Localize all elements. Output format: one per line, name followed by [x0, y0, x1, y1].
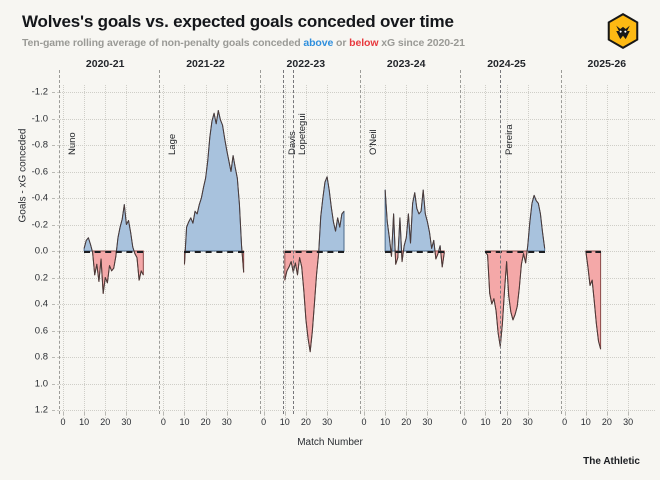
x-tick-label: 20: [301, 417, 311, 427]
x-tick-label: 30: [523, 417, 533, 427]
area-below-xg: [586, 251, 601, 349]
facet-separator: [561, 70, 562, 414]
season-label-2025-26: 2025-26: [559, 58, 655, 70]
x-tick-label: 10: [179, 417, 189, 427]
y-tick-label: 1.2: [0, 405, 48, 416]
grid-line-vertical: [628, 85, 629, 418]
y-tick-mark: [52, 251, 55, 252]
y-tick-mark: [52, 331, 55, 332]
page-title: Wolves's goals vs. expected goals conced…: [22, 12, 454, 32]
x-tick-label: 20: [201, 417, 211, 427]
grid-line-vertical: [464, 85, 465, 418]
subtitle-above-word: above: [303, 37, 333, 49]
facet-separator: [59, 70, 60, 414]
x-tick-mark: [206, 412, 207, 415]
x-tick-label: 10: [280, 417, 290, 427]
x-tick-mark: [528, 412, 529, 415]
area-above-xg: [398, 218, 401, 251]
y-tick-mark: [52, 119, 55, 120]
wolves-crest-icon: [606, 12, 640, 50]
zero-baseline: [385, 251, 444, 253]
x-tick-mark: [628, 412, 629, 415]
y-tick-mark: [52, 410, 55, 411]
y-tick-label: 1.0: [0, 378, 48, 389]
x-tick-label: 10: [79, 417, 89, 427]
x-tick-mark: [507, 412, 508, 415]
y-tick-mark: [52, 384, 55, 385]
x-tick-label: 0: [261, 417, 266, 427]
manager-change-line: [500, 70, 501, 414]
x-tick-mark: [227, 412, 228, 415]
facet-separator: [159, 70, 160, 414]
x-tick-mark: [586, 412, 587, 415]
area-above-xg: [392, 214, 395, 251]
x-tick-mark: [607, 412, 608, 415]
season-label-2021-22: 2021-22: [157, 58, 253, 70]
x-tick-label: 20: [401, 417, 411, 427]
manager-change-line: [293, 70, 294, 414]
manager-label-lage: Lage: [167, 134, 178, 155]
y-tick-mark: [52, 278, 55, 279]
grid-line-vertical: [163, 85, 164, 418]
area-below-xg: [134, 251, 143, 280]
season-label-2020-21: 2020-21: [57, 58, 153, 70]
y-tick-mark: [52, 357, 55, 358]
y-tick-mark: [52, 225, 55, 226]
area-below-xg: [441, 251, 445, 267]
x-tick-label: 20: [100, 417, 110, 427]
y-tick-label: -1.0: [0, 113, 48, 124]
area-above-xg: [319, 177, 344, 251]
facet-separator: [460, 70, 461, 414]
x-tick-mark: [464, 412, 465, 415]
x-tick-label: 30: [623, 417, 633, 427]
manager-label-lopetegui: Lopetegui: [297, 113, 308, 155]
x-tick-mark: [126, 412, 127, 415]
area-below-xg: [285, 251, 319, 352]
y-tick-label: -0.2: [0, 219, 48, 230]
series-outline: [84, 205, 143, 294]
x-tick-mark: [105, 412, 106, 415]
y-tick-mark: [52, 304, 55, 305]
x-tick-mark: [427, 412, 428, 415]
x-tick-label: 0: [361, 417, 366, 427]
area-above-xg: [185, 111, 242, 251]
y-tick-mark: [52, 172, 55, 173]
grid-line-vertical: [364, 85, 365, 418]
x-tick-label: 0: [60, 417, 65, 427]
x-tick-label: 0: [161, 417, 166, 427]
x-tick-mark: [565, 412, 566, 415]
subtitle-part-1: Ten-game rolling average of non-penalty …: [22, 37, 303, 49]
subtitle-part-3: xG since 2020-21: [378, 37, 464, 49]
manager-label-pereira: Pereira: [504, 124, 515, 155]
x-tick-label: 0: [562, 417, 567, 427]
x-tick-mark: [285, 412, 286, 415]
y-tick-mark: [52, 92, 55, 93]
subtitle-below-word: below: [349, 37, 378, 49]
x-tick-label: 30: [422, 417, 432, 427]
grid-line-vertical: [63, 85, 64, 418]
y-tick-label: -0.4: [0, 193, 48, 204]
x-tick-mark: [327, 412, 328, 415]
x-tick-label: 10: [480, 417, 490, 427]
series-outline: [586, 251, 601, 349]
x-tick-label: 20: [502, 417, 512, 427]
y-tick-label: -1.2: [0, 87, 48, 98]
area-above-xg: [116, 205, 134, 251]
area-above-xg: [403, 190, 435, 251]
x-tick-mark: [406, 412, 407, 415]
y-tick-label: 0.4: [0, 299, 48, 310]
x-tick-mark: [84, 412, 85, 415]
area-below-xg: [242, 251, 244, 272]
x-tick-mark: [485, 412, 486, 415]
zero-baseline: [485, 251, 544, 253]
x-axis-title: Match Number: [0, 437, 660, 448]
x-tick-mark: [306, 412, 307, 415]
y-tick-label: 0.2: [0, 272, 48, 283]
x-tick-label: 10: [581, 417, 591, 427]
grid-line-vertical: [565, 85, 566, 418]
manager-change-line: [283, 70, 284, 414]
x-tick-label: 30: [222, 417, 232, 427]
x-tick-mark: [184, 412, 185, 415]
x-tick-label: 10: [380, 417, 390, 427]
manager-label-oneil: O'Neil: [368, 129, 379, 155]
x-tick-label: 20: [602, 417, 612, 427]
series-outline: [184, 111, 243, 273]
season-label-2024-25: 2024-25: [458, 58, 554, 70]
season-label-2022-23: 2022-23: [258, 58, 354, 70]
x-tick-mark: [364, 412, 365, 415]
y-tick-label: -0.8: [0, 140, 48, 151]
y-tick-label: -0.6: [0, 166, 48, 177]
area-above-xg: [527, 195, 545, 251]
facet-separator: [360, 70, 361, 414]
x-tick-mark: [385, 412, 386, 415]
series-outline: [385, 190, 444, 267]
y-tick-mark: [52, 198, 55, 199]
x-tick-label: 30: [121, 417, 131, 427]
x-tick-mark: [163, 412, 164, 415]
season-label-2023-24: 2023-24: [358, 58, 454, 70]
x-tick-label: 0: [462, 417, 467, 427]
x-tick-mark: [264, 412, 265, 415]
credit-label: The Athletic: [583, 456, 640, 467]
zero-baseline: [84, 251, 143, 253]
y-tick-label: 0.8: [0, 352, 48, 363]
manager-label-nuno: Nuno: [67, 132, 78, 155]
zero-baseline: [586, 251, 601, 253]
subtitle-part-2: or: [333, 37, 349, 49]
x-tick-mark: [63, 412, 64, 415]
y-tick-mark: [52, 145, 55, 146]
zero-baseline: [184, 251, 243, 253]
area-above-xg: [84, 238, 92, 251]
grid-line-vertical: [264, 85, 265, 418]
chart-root: Wolves's goals vs. expected goals conced…: [0, 0, 660, 480]
y-tick-label: 0.6: [0, 325, 48, 336]
facet-separator: [260, 70, 261, 414]
grid-line-vertical: [607, 85, 608, 418]
series-outline: [485, 195, 544, 346]
x-tick-label: 30: [322, 417, 332, 427]
y-tick-label: 0.0: [0, 246, 48, 257]
chart-subtitle: Ten-game rolling average of non-penalty …: [22, 37, 465, 49]
